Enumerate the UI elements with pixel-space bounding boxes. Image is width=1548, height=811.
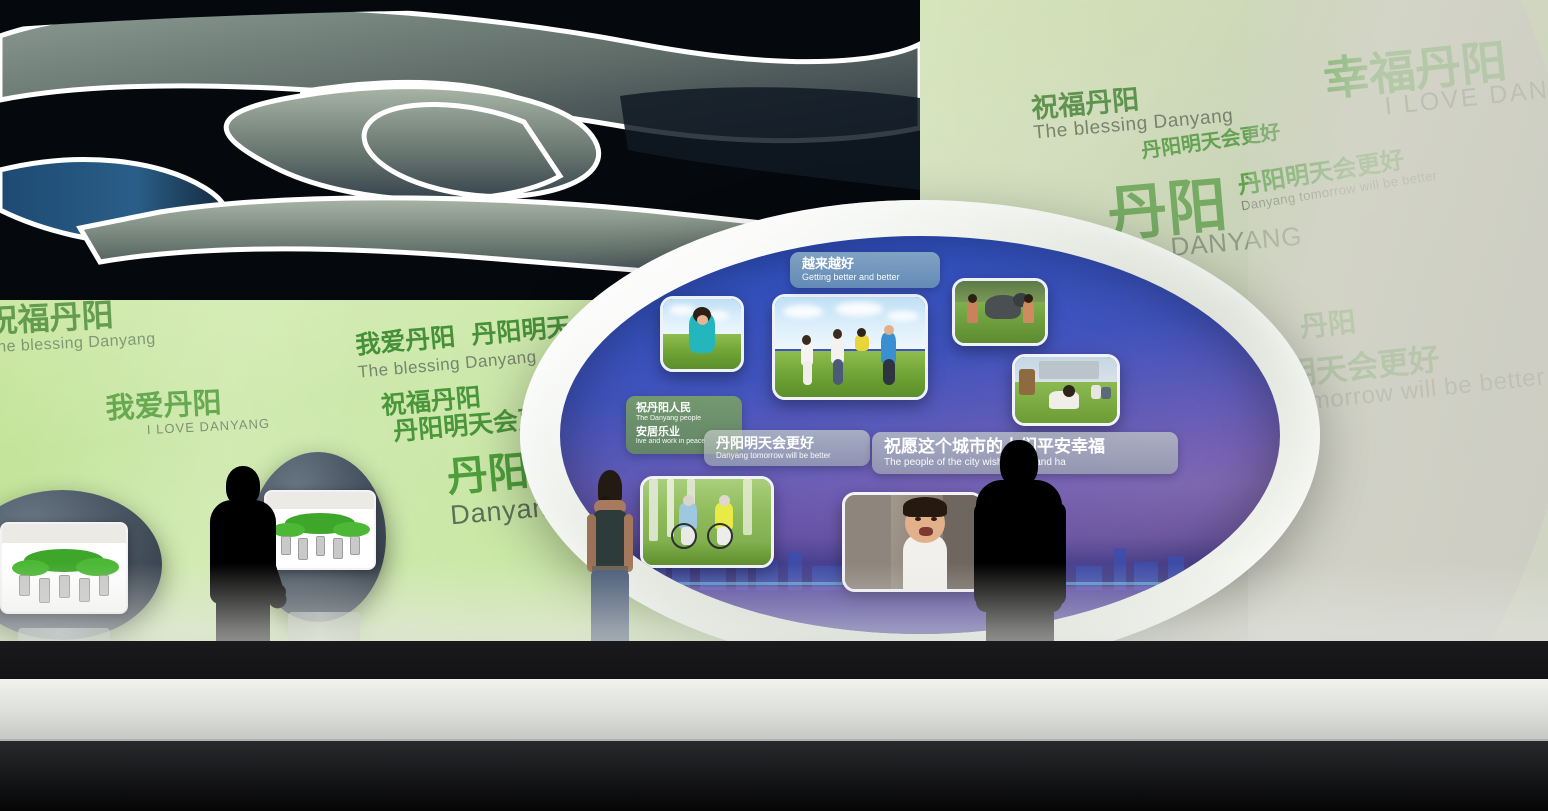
wish-tag[interactable] [350,536,360,555]
caption-en: Getting better and better [802,272,928,282]
wall-text-ilove-left: 我爱丹阳 I LOVE DANYANG [105,386,271,440]
caption-en: The Danyang people [636,415,732,423]
photo-kids-buffalo[interactable] [952,278,1048,346]
caption-tomorrow-better[interactable]: 丹阳明天会更好 Danyang tomorrow will be better [704,430,870,466]
wall-text-blessing-far-left: 祝福丹阳 The blessing Danyang [0,296,156,357]
photo-picnic-park[interactable] [1012,354,1120,426]
browser-toolbar [2,524,126,544]
caption-cn: 丹阳明天会更好 [716,435,858,451]
caption-getting-better[interactable]: 越来越好 Getting better and better [790,252,940,288]
caption-en: Danyang tomorrow will be better [716,451,858,460]
floor-reflection [0,739,1548,811]
caption-cn: 祝丹阳人民 [636,402,732,415]
photo-family-field[interactable] [772,294,928,400]
wish-tag[interactable] [333,538,343,559]
exhibition-hall-render: 祝福丹阳 The blessing Danyang 我爱丹阳 I LOVE DA… [0,0,1548,811]
caption-cn: 越来越好 [802,257,928,272]
photo-seniors-bikes[interactable] [640,476,774,568]
tank-top [593,510,627,568]
tree-canopy-icon [333,522,370,537]
wish-tag[interactable] [316,536,326,556]
floor-light-strip [0,679,1548,741]
photo-girl-jumping[interactable] [660,296,744,372]
floor [0,641,1548,811]
